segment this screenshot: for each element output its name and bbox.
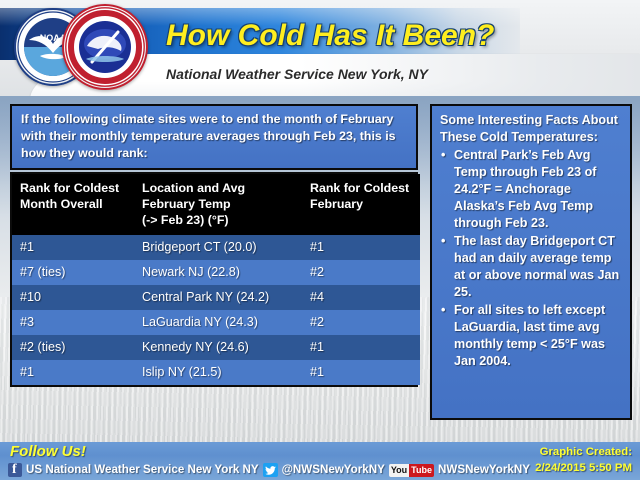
table-row: #2 (ties) Kennedy NY (24.6) #1	[12, 335, 420, 360]
youtube-handle[interactable]: NWSNewYorkNY	[438, 462, 530, 478]
cell-rank-overall: #2 (ties)	[12, 335, 134, 360]
column-header-location-temp: Location and Avg February Temp (-> Feb 2…	[134, 174, 302, 235]
column-header-rank-february: Rank for Coldest February	[302, 174, 420, 235]
page-title: How Cold Has It Been?	[166, 14, 526, 58]
cell-rank-february: #4	[302, 285, 420, 310]
cell-rank-overall: #1	[12, 360, 134, 385]
cell-location: Newark NJ (22.8)	[134, 260, 302, 285]
cell-location: LaGuardia NY (24.3)	[134, 310, 302, 335]
column-header-line: Location and Avg	[142, 180, 296, 196]
facebook-handle[interactable]: US National Weather Service New York NY	[26, 462, 259, 478]
graphic-created-block: Graphic Created: 2/24/2015 5:50 PM	[535, 444, 632, 476]
table-row: #1 Bridgeport CT (20.0) #1	[12, 235, 420, 260]
cell-location: Central Park NY (24.2)	[134, 285, 302, 310]
cell-location: Bridgeport CT (20.0)	[134, 235, 302, 260]
table-row: #10 Central Park NY (24.2) #4	[12, 285, 420, 310]
cell-rank-overall: #1	[12, 235, 134, 260]
youtube-mark-you: You	[389, 464, 409, 477]
table-row: #1 Islip NY (21.5) #1	[12, 360, 420, 385]
rank-table-head: Rank for Coldest Month Overall Location …	[12, 174, 420, 235]
facebook-icon[interactable]	[8, 463, 22, 477]
cell-rank-february: #1	[302, 335, 420, 360]
rank-table: Rank for Coldest Month Overall Location …	[12, 174, 420, 385]
fact-text: The last day Bridgeport CT had an daily …	[454, 234, 619, 299]
cell-rank-february: #2	[302, 260, 420, 285]
page-subtitle: National Weather Service New York, NY	[166, 62, 428, 86]
column-header-line: February	[310, 196, 414, 212]
table-header-row: Rank for Coldest Month Overall Location …	[12, 174, 420, 235]
facts-list: • Central Park’s Feb Avg Temp through Fe…	[440, 147, 624, 370]
page-footer: Follow Us! US National Weather Service N…	[0, 442, 640, 480]
page-header: NOAA How Cold Has It Been? National Weat…	[0, 0, 640, 96]
slide-root: NOAA How Cold Has It Been? National Weat…	[0, 0, 640, 480]
twitter-icon[interactable]	[263, 463, 278, 477]
table-row: #3 LaGuardia NY (24.3) #2	[12, 310, 420, 335]
cell-location: Kennedy NY (24.6)	[134, 335, 302, 360]
cell-rank-february: #2	[302, 310, 420, 335]
fact-text: Central Park’s Feb Avg Temp through Feb …	[454, 148, 597, 230]
bullet-icon: •	[441, 147, 445, 164]
bullet-icon: •	[441, 302, 445, 319]
cell-rank-february: #1	[302, 360, 420, 385]
cell-rank-overall: #7 (ties)	[12, 260, 134, 285]
intro-statement-box: If the following climate sites were to e…	[10, 104, 418, 170]
follow-us-heading: Follow Us!	[10, 443, 86, 461]
column-header-line: (-> Feb 23) (°F)	[142, 212, 296, 228]
column-header-rank-overall: Rank for Coldest Month Overall	[12, 174, 134, 235]
nws-logo	[62, 4, 148, 90]
youtube-icon[interactable]: You Tube	[389, 464, 434, 477]
bullet-icon: •	[441, 233, 445, 250]
column-header-line: Month Overall	[20, 196, 128, 212]
cell-rank-overall: #3	[12, 310, 134, 335]
facts-panel-title: Some Interesting Facts About These Cold …	[440, 112, 624, 146]
list-item: • The last day Bridgeport CT had an dail…	[440, 233, 624, 301]
graphic-created-value: 2/24/2015 5:50 PM	[535, 460, 632, 476]
cell-location: Islip NY (21.5)	[134, 360, 302, 385]
cell-rank-overall: #10	[12, 285, 134, 310]
cell-rank-february: #1	[302, 235, 420, 260]
graphic-created-label: Graphic Created:	[535, 444, 632, 460]
youtube-mark-tube: Tube	[409, 464, 434, 477]
column-header-line: Rank for Coldest	[20, 180, 128, 196]
list-item: • For all sites to left except LaGuardia…	[440, 302, 624, 370]
list-item: • Central Park’s Feb Avg Temp through Fe…	[440, 147, 624, 232]
column-header-line: February Temp	[142, 196, 296, 212]
fact-text: For all sites to left except LaGuardia, …	[454, 303, 605, 368]
social-links-row: US National Weather Service New York NY …	[8, 462, 530, 478]
interesting-facts-panel: Some Interesting Facts About These Cold …	[430, 104, 632, 420]
table-row: #7 (ties) Newark NJ (22.8) #2	[12, 260, 420, 285]
rank-table-body: #1 Bridgeport CT (20.0) #1 #7 (ties) New…	[12, 235, 420, 385]
rank-table-container: Rank for Coldest Month Overall Location …	[10, 172, 418, 387]
twitter-handle[interactable]: @NWSNewYorkNY	[282, 462, 385, 478]
column-header-line: Rank for Coldest	[310, 180, 414, 196]
